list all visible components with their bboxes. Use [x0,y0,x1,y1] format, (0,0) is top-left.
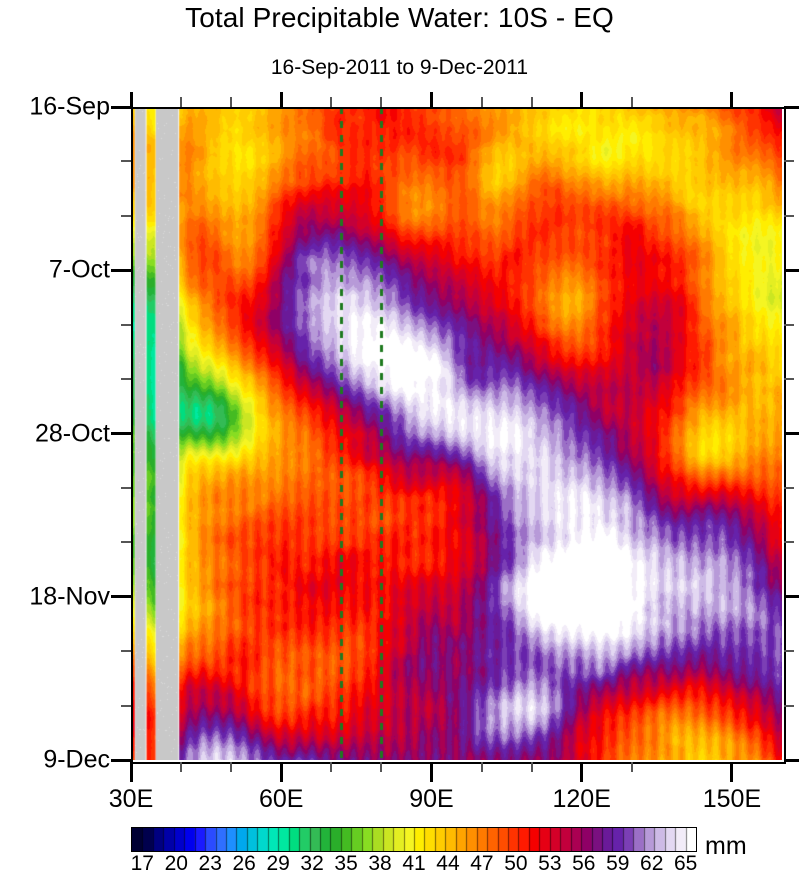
y-tick-major [111,595,131,598]
x-axis-tick-label: 120E [552,785,610,814]
subtitle: 16-Sep-2011 to 9-Dec-2011 [0,56,799,80]
y-tick-major-right [784,269,799,272]
x-tick-minor-top [631,97,633,107]
x-tick-minor-top [481,97,483,107]
colorbar-unit-label: mm [705,832,747,861]
colorbar-tick-label: 59 [606,852,629,876]
y-axis-tick-label: 7-Oct [49,256,110,285]
y-tick-minor [121,378,131,380]
x-axis-tick-label: 60E [259,785,303,814]
colorbar-tick-label: 26 [233,852,256,876]
x-tick-major-top [580,92,583,107]
y-tick-minor [121,324,131,326]
x-tick-minor-top [380,97,382,107]
x-tick-minor-top [180,97,182,107]
page-title: Total Precipitable Water: 10S - EQ [0,2,799,34]
x-tick-minor-top [330,97,332,107]
x-tick-major [130,762,133,782]
x-tick-minor [180,762,182,772]
colorbar-tick-label: 47 [470,852,493,876]
x-tick-minor [631,762,633,772]
x-tick-minor [531,762,533,772]
y-axis-tick-label: 18-Nov [29,582,110,611]
y-tick-minor-right [784,541,794,543]
heatmap-field [131,107,782,760]
colorbar-tick-label: 56 [572,852,595,876]
x-tick-major-top [730,92,733,107]
colorbar-tick-label: 62 [640,852,663,876]
x-tick-minor [230,762,232,772]
y-tick-minor-right [784,378,794,380]
hovmoller-plot [131,107,782,760]
x-tick-minor-top [531,97,533,107]
colorbar-tick-label: 50 [504,852,527,876]
x-axis-tick-label: 90E [409,785,453,814]
y-tick-minor-right [784,487,794,489]
y-tick-minor [121,487,131,489]
colorbar [131,827,697,852]
x-tick-major-top [280,92,283,107]
y-tick-major-right [784,432,799,435]
y-tick-major-right [784,759,799,762]
colorbar-tick-label: 29 [266,852,289,876]
colorbar-gradient [132,828,696,851]
colorbar-tick-label: 38 [368,852,391,876]
x-tick-major [280,762,283,782]
x-tick-major [580,762,583,782]
x-tick-minor-top [230,97,232,107]
y-tick-minor [121,705,131,707]
y-tick-major [111,106,131,109]
x-tick-major-top [130,92,133,107]
y-tick-minor [121,650,131,652]
y-tick-minor-right [784,215,794,217]
figure-canvas: Total Precipitable Water: 10S - EQ 16-Se… [0,0,799,873]
x-tick-major [430,762,433,782]
colorbar-tick-label: 23 [199,852,222,876]
x-tick-major [730,762,733,782]
y-axis-tick-label: 16-Sep [29,93,110,122]
x-axis-tick-label: 150E [703,785,761,814]
colorbar-tick-label: 65 [674,852,697,876]
x-axis-tick-label: 30E [109,785,153,814]
colorbar-tick-label: 32 [300,852,323,876]
y-tick-major-right [784,595,799,598]
y-axis-tick-label: 28-Oct [35,419,110,448]
colorbar-tick-label: 53 [538,852,561,876]
x-tick-minor [481,762,483,772]
y-tick-minor [121,160,131,162]
x-tick-major-top [430,92,433,107]
y-tick-minor [121,215,131,217]
x-tick-minor [380,762,382,772]
colorbar-tick-label: 41 [402,852,425,876]
colorbar-tick-label: 17 [131,852,154,876]
colorbar-tick-label: 35 [334,852,357,876]
y-tick-minor-right [784,324,794,326]
y-tick-major [111,269,131,272]
colorbar-tick-label: 44 [436,852,459,876]
y-tick-major [111,432,131,435]
y-tick-minor-right [784,650,794,652]
y-axis-tick-label: 9-Dec [43,746,110,775]
colorbar-tick-label: 20 [165,852,188,876]
y-tick-minor [121,541,131,543]
y-tick-minor-right [784,160,794,162]
y-tick-major-right [784,106,799,109]
x-tick-minor [330,762,332,772]
y-tick-major [111,759,131,762]
y-tick-minor-right [784,705,794,707]
